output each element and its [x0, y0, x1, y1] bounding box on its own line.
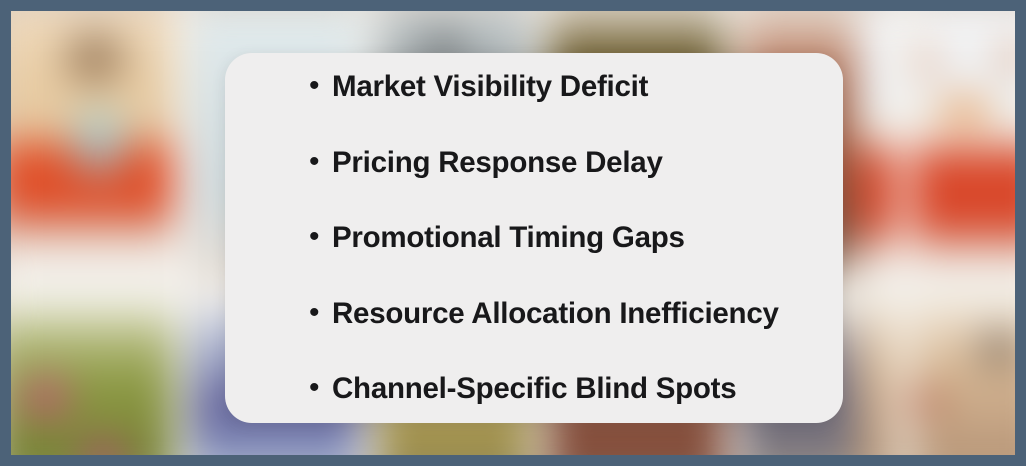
bullet-item-label: Promotional Timing Gaps — [332, 200, 685, 276]
backdrop-tile-right-white-orange — [857, 11, 1015, 280]
list-item: • Channel-Specific Blind Spots — [309, 351, 819, 427]
content-card: • Market Visibility Deficit • Pricing Re… — [225, 53, 843, 423]
backdrop-gutter-vertical-1 — [173, 11, 189, 455]
bullet-item-label: Market Visibility Deficit — [332, 49, 648, 125]
backdrop-tile-top-left-portrait — [11, 11, 173, 280]
backdrop-tile-right-bottom-tan — [857, 303, 1015, 455]
bullet-dot-icon: • — [309, 48, 332, 124]
bullet-dot-icon: • — [309, 124, 332, 200]
backdrop-gutter-vertical-5 — [896, 11, 912, 455]
bullet-list: • Market Visibility Deficit • Pricing Re… — [309, 53, 819, 423]
list-item: • Resource Allocation Inefficiency — [309, 276, 819, 352]
bullet-item-label: Channel-Specific Blind Spots — [332, 351, 736, 427]
slide-canvas: • Market Visibility Deficit • Pricing Re… — [0, 0, 1026, 466]
backdrop-tile-bottom-left-floral — [11, 303, 173, 455]
bullet-dot-icon: • — [309, 275, 332, 351]
bullet-item-label: Pricing Response Delay — [332, 125, 663, 201]
list-item: • Promotional Timing Gaps — [309, 200, 819, 276]
bullet-dot-icon: • — [309, 350, 332, 426]
bullet-item-label: Resource Allocation Inefficiency — [332, 276, 779, 352]
list-item: • Pricing Response Delay — [309, 125, 819, 201]
list-item: • Market Visibility Deficit — [309, 49, 819, 125]
bullet-dot-icon: • — [309, 199, 332, 275]
